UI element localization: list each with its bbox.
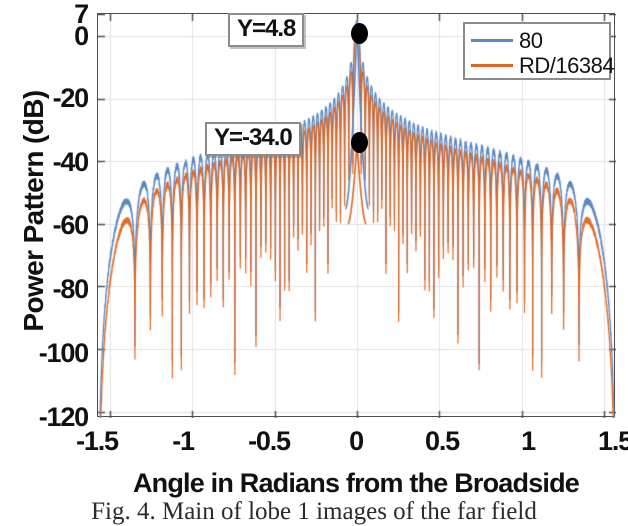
datatip-marker-peak[interactable] xyxy=(351,23,368,44)
legend-label-80: 80 xyxy=(519,30,542,52)
y-axis-label: Power Pattern (dB) xyxy=(18,9,50,413)
x-tick-1p5: 1.5 xyxy=(570,428,628,455)
datatip-peak[interactable]: Y=4.8 xyxy=(228,13,304,47)
figure-caption: Fig. 4. Main of lobe 1 images of the far… xyxy=(0,498,628,526)
legend[interactable]: 80 RD/16384 xyxy=(463,22,611,80)
x-tick-m1: -1 xyxy=(138,428,228,455)
figure-panel: 7 0 -20 -40 -60 -80 -100 -120 -1.5 -1 -0… xyxy=(0,0,628,520)
x-tick-m1p5: -1.5 xyxy=(52,428,142,455)
legend-entry-80[interactable]: 80 xyxy=(471,28,603,53)
x-tick-1: 1 xyxy=(483,428,573,455)
legend-entry-rd[interactable]: RD/16384 xyxy=(471,53,603,78)
legend-line-icon-rd xyxy=(471,64,513,67)
legend-label-rd: RD/16384 xyxy=(519,55,614,77)
datatip-second[interactable]: Y=-34.0 xyxy=(205,122,301,156)
x-tick-0: 0 xyxy=(311,428,401,455)
x-axis-label: Angle in Radians from the Broadside xyxy=(97,468,615,499)
x-tick-0p5: 0.5 xyxy=(397,428,487,455)
legend-line-icon-80 xyxy=(471,39,513,42)
datatip-marker-second[interactable] xyxy=(351,132,368,153)
x-tick-m0p5: -0.5 xyxy=(224,428,314,455)
